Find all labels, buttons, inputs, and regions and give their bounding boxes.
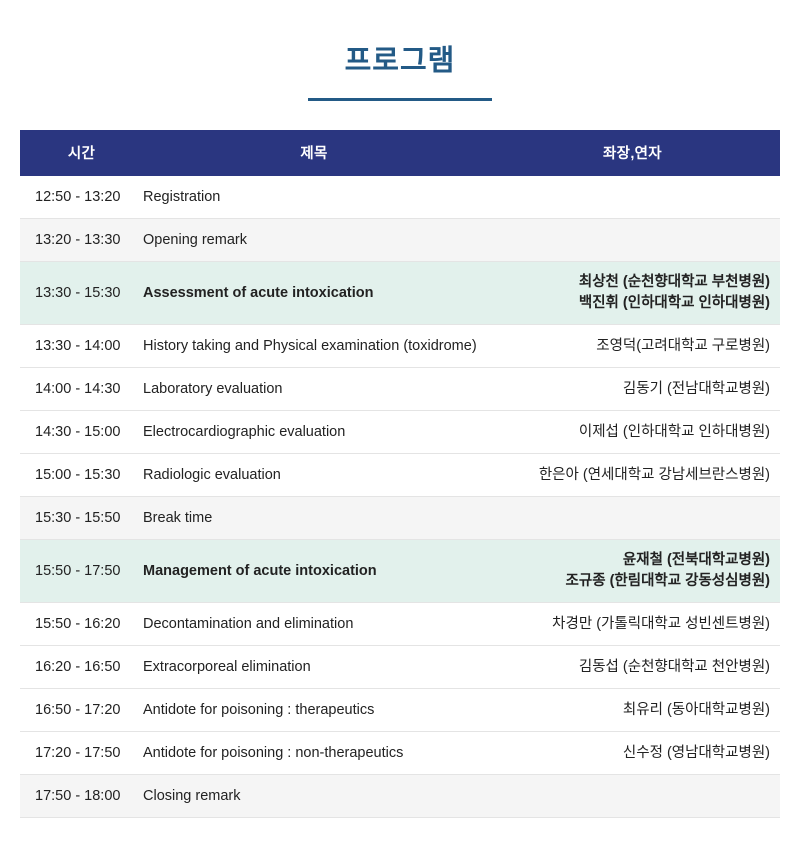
table-row: 17:50 - 18:00Closing remark: [20, 775, 780, 818]
cell-session-title: Closing remark: [143, 775, 485, 818]
cell-time: 14:30 - 15:00: [20, 411, 143, 454]
table-row: 13:20 - 13:30Opening remark: [20, 219, 780, 262]
program-schedule-table: 시간 제목 좌장,연자 12:50 - 13:20Registration13:…: [20, 130, 780, 819]
cell-time: 13:30 - 14:00: [20, 325, 143, 368]
table-row: 15:50 - 17:50Management of acute intoxic…: [20, 540, 780, 603]
cell-session-title: Decontamination and elimination: [143, 603, 485, 646]
cell-speaker: 한은아 (연세대학교 강남세브란스병원): [485, 454, 780, 497]
cell-speaker: [485, 497, 780, 540]
cell-session-title: Opening remark: [143, 219, 485, 262]
table-row: 15:50 - 16:20Decontamination and elimina…: [20, 603, 780, 646]
column-header-time: 시간: [20, 130, 143, 176]
cell-session-title: Break time: [143, 497, 485, 540]
table-row: 14:30 - 15:00Electrocardiographic evalua…: [20, 411, 780, 454]
cell-time: 17:20 - 17:50: [20, 732, 143, 775]
speaker-line: 백진휘 (인하대학교 인하대병원): [485, 293, 770, 314]
cell-speaker: [485, 219, 780, 262]
table-row: 15:30 - 15:50Break time: [20, 497, 780, 540]
cell-time: 15:00 - 15:30: [20, 454, 143, 497]
column-header-speaker: 좌장,연자: [485, 130, 780, 176]
speaker-line: 최상천 (순천향대학교 부천병원): [485, 272, 770, 293]
table-header-row: 시간 제목 좌장,연자: [20, 130, 780, 176]
cell-speaker: 최유리 (동아대학교병원): [485, 689, 780, 732]
program-page: 프로그램 시간 제목 좌장,연자 12:50 - 13:20Registrati…: [0, 0, 800, 863]
speaker-line: 차경만 (가톨릭대학교 성빈센트병원): [485, 614, 770, 635]
speaker-line: 한은아 (연세대학교 강남세브란스병원): [485, 465, 770, 486]
table-row: 17:20 - 17:50Antidote for poisoning : no…: [20, 732, 780, 775]
speaker-line: 신수정 (영남대학교병원): [485, 743, 770, 764]
cell-speaker: 윤재철 (전북대학교병원)조규종 (한림대학교 강동성심병원): [485, 540, 780, 603]
cell-time: 12:50 - 13:20: [20, 176, 143, 219]
cell-time: 16:50 - 17:20: [20, 689, 143, 732]
table-header: 시간 제목 좌장,연자: [20, 130, 780, 176]
cell-session-title: Registration: [143, 176, 485, 219]
page-header: 프로그램: [0, 0, 800, 101]
column-header-title: 제목: [143, 130, 485, 176]
cell-time: 17:50 - 18:00: [20, 775, 143, 818]
cell-session-title: Management of acute intoxication: [143, 540, 485, 603]
cell-speaker: 최상천 (순천향대학교 부천병원)백진휘 (인하대학교 인하대병원): [485, 262, 780, 325]
cell-session-title: Assessment of acute intoxication: [143, 262, 485, 325]
cell-time: 13:30 - 15:30: [20, 262, 143, 325]
cell-time: 16:20 - 16:50: [20, 646, 143, 689]
cell-speaker: 김동섭 (순천향대학교 천안병원): [485, 646, 780, 689]
table-row: 12:50 - 13:20Registration: [20, 176, 780, 219]
cell-time: 14:00 - 14:30: [20, 368, 143, 411]
speaker-line: 김동섭 (순천향대학교 천안병원): [485, 657, 770, 678]
table-row: 13:30 - 14:00History taking and Physical…: [20, 325, 780, 368]
cell-speaker: [485, 775, 780, 818]
speaker-line: 이제섭 (인하대학교 인하대병원): [485, 422, 770, 443]
cell-session-title: Extracorporeal elimination: [143, 646, 485, 689]
table-row: 13:30 - 15:30Assessment of acute intoxic…: [20, 262, 780, 325]
table-row: 16:50 - 17:20Antidote for poisoning : th…: [20, 689, 780, 732]
speaker-line: 윤재철 (전북대학교병원): [485, 550, 770, 571]
title-underline-rule: [308, 98, 492, 101]
page-title: 프로그램: [0, 44, 800, 79]
cell-session-title: Electrocardiographic evaluation: [143, 411, 485, 454]
table-row: 15:00 - 15:30Radiologic evaluation한은아 (연…: [20, 454, 780, 497]
cell-speaker: 김동기 (전남대학교병원): [485, 368, 780, 411]
table-row: 14:00 - 14:30Laboratory evaluation김동기 (전…: [20, 368, 780, 411]
cell-time: 15:50 - 16:20: [20, 603, 143, 646]
cell-speaker: 신수정 (영남대학교병원): [485, 732, 780, 775]
cell-speaker: [485, 176, 780, 219]
cell-session-title: Antidote for poisoning : therapeutics: [143, 689, 485, 732]
speaker-line: 최유리 (동아대학교병원): [485, 700, 770, 721]
cell-time: 13:20 - 13:30: [20, 219, 143, 262]
schedule-table-container: 시간 제목 좌장,연자 12:50 - 13:20Registration13:…: [20, 130, 780, 819]
table-row: 16:20 - 16:50Extracorporeal elimination김…: [20, 646, 780, 689]
cell-session-title: History taking and Physical examination …: [143, 325, 485, 368]
speaker-line: 조영덕(고려대학교 구로병원): [485, 336, 770, 357]
cell-session-title: Antidote for poisoning : non-therapeutic…: [143, 732, 485, 775]
cell-speaker: 조영덕(고려대학교 구로병원): [485, 325, 780, 368]
speaker-line: 조규종 (한림대학교 강동성심병원): [485, 571, 770, 592]
cell-time: 15:30 - 15:50: [20, 497, 143, 540]
cell-speaker: 차경만 (가톨릭대학교 성빈센트병원): [485, 603, 780, 646]
speaker-line: 김동기 (전남대학교병원): [485, 379, 770, 400]
table-body: 12:50 - 13:20Registration13:20 - 13:30Op…: [20, 176, 780, 818]
cell-time: 15:50 - 17:50: [20, 540, 143, 603]
cell-session-title: Laboratory evaluation: [143, 368, 485, 411]
cell-session-title: Radiologic evaluation: [143, 454, 485, 497]
cell-speaker: 이제섭 (인하대학교 인하대병원): [485, 411, 780, 454]
